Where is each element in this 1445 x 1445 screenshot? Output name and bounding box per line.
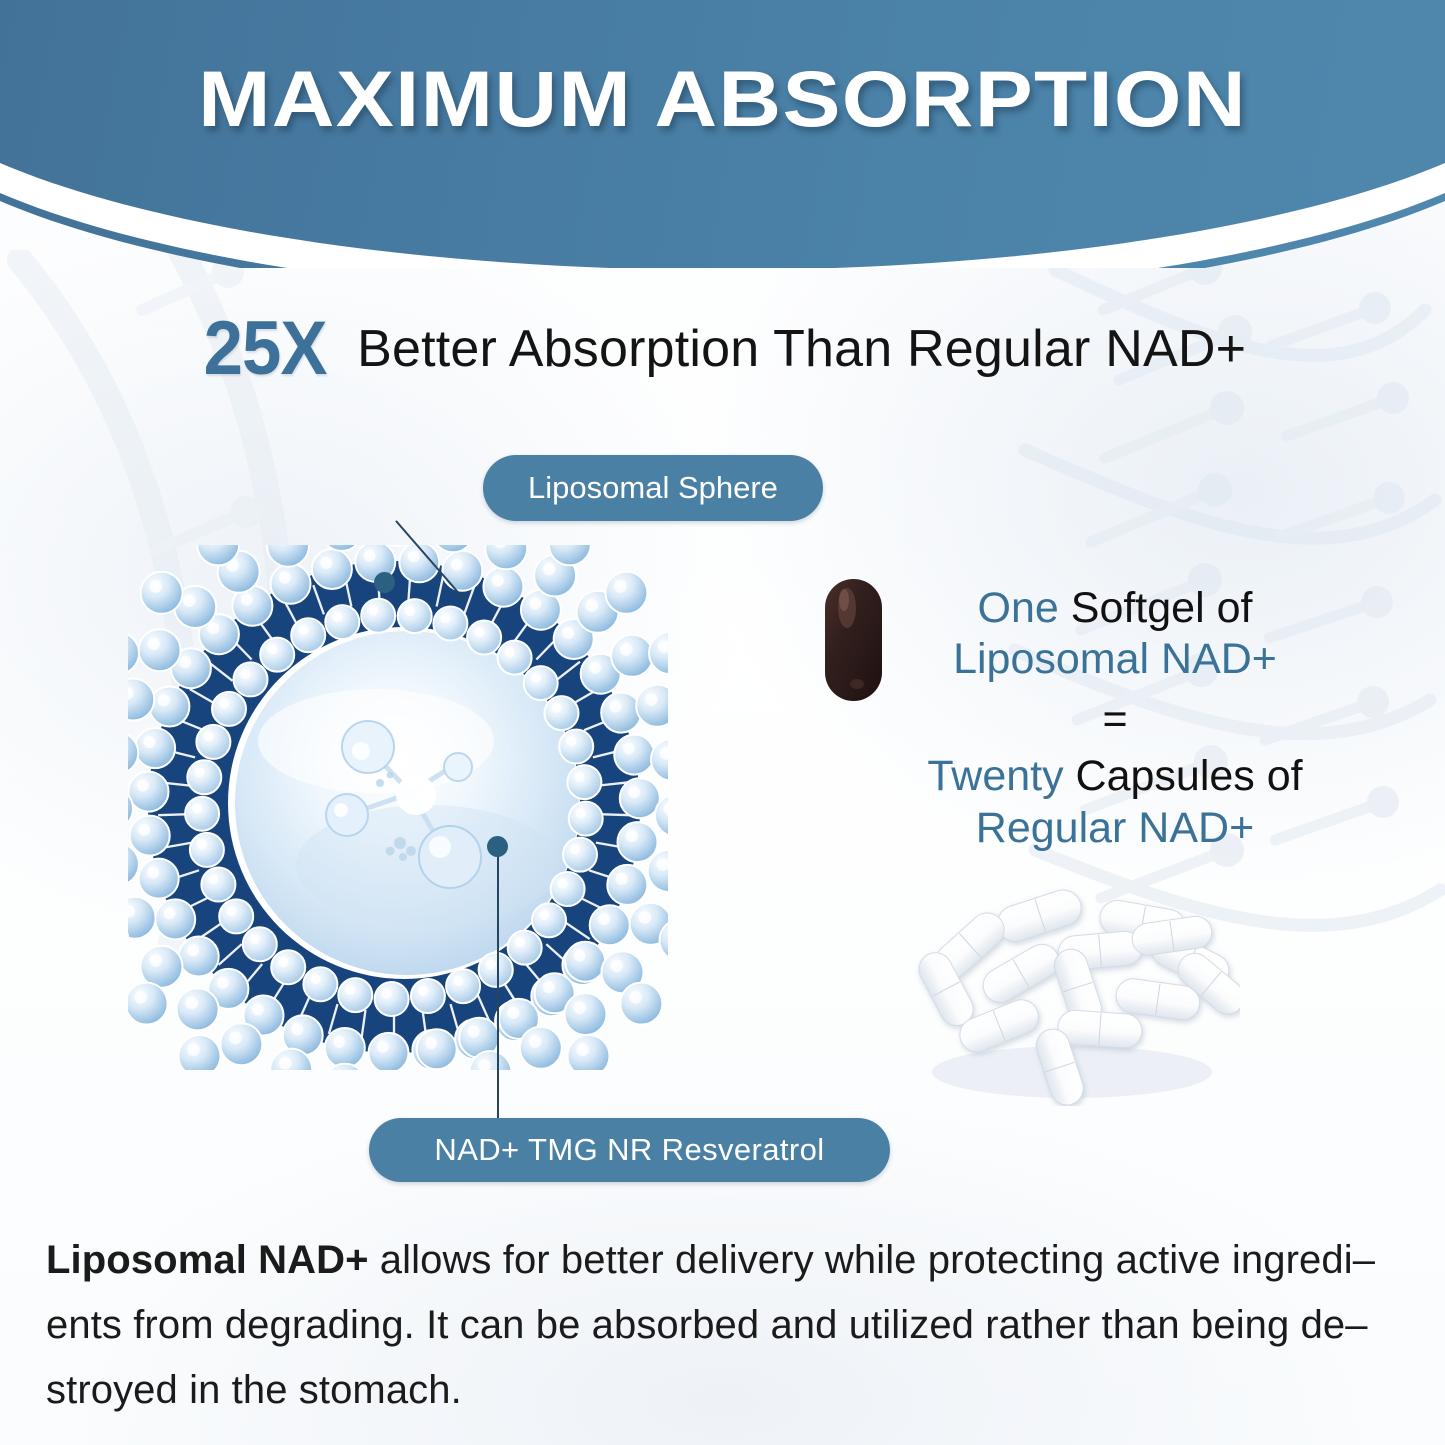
comparison-line-4: Regular NAD+	[880, 803, 1350, 854]
callout-liposomal-sphere-label: Liposomal Sphere	[528, 470, 778, 506]
comparison-line-1: One Softgel of	[880, 583, 1350, 634]
footer-description: Liposomal NAD+ allows for better deliver…	[46, 1228, 1402, 1422]
callout-ingredients-label: NAD+ TMG NR Resveratrol	[434, 1132, 824, 1168]
leader-dot-ingredients	[487, 836, 508, 857]
page-title: MAXIMUM ABSORPTION	[0, 53, 1445, 145]
callout-liposomal-sphere[interactable]: Liposomal Sphere	[483, 455, 823, 521]
leader-dot-sphere	[374, 572, 395, 593]
liposome-sphere-icon	[128, 545, 668, 1070]
absorption-multiplier: 25X	[203, 305, 326, 392]
capsule-pile-icon	[900, 876, 1240, 1106]
footer-bold-lead: Liposomal NAD+	[46, 1238, 369, 1282]
comparison-line-3: Twenty Capsules of	[880, 751, 1350, 802]
comparison-line-2: Liposomal NAD+	[880, 634, 1350, 685]
softgel-capsule-icon	[824, 578, 883, 702]
headline-row: 25XBetter Absorption Than Regular NAD+	[0, 305, 1445, 392]
comparison-equals: =	[880, 694, 1350, 745]
headline-text: Better Absorption Than Regular NAD+	[357, 319, 1246, 379]
comparison-text: One Softgel of Liposomal NAD+ = Twenty C…	[880, 583, 1350, 854]
callout-ingredients[interactable]: NAD+ TMG NR Resveratrol	[369, 1118, 890, 1182]
leader-line-ingredients	[497, 845, 499, 1120]
infographic-root: MAXIMUM ABSORPTION 25XBetter Absorption …	[0, 0, 1445, 1445]
